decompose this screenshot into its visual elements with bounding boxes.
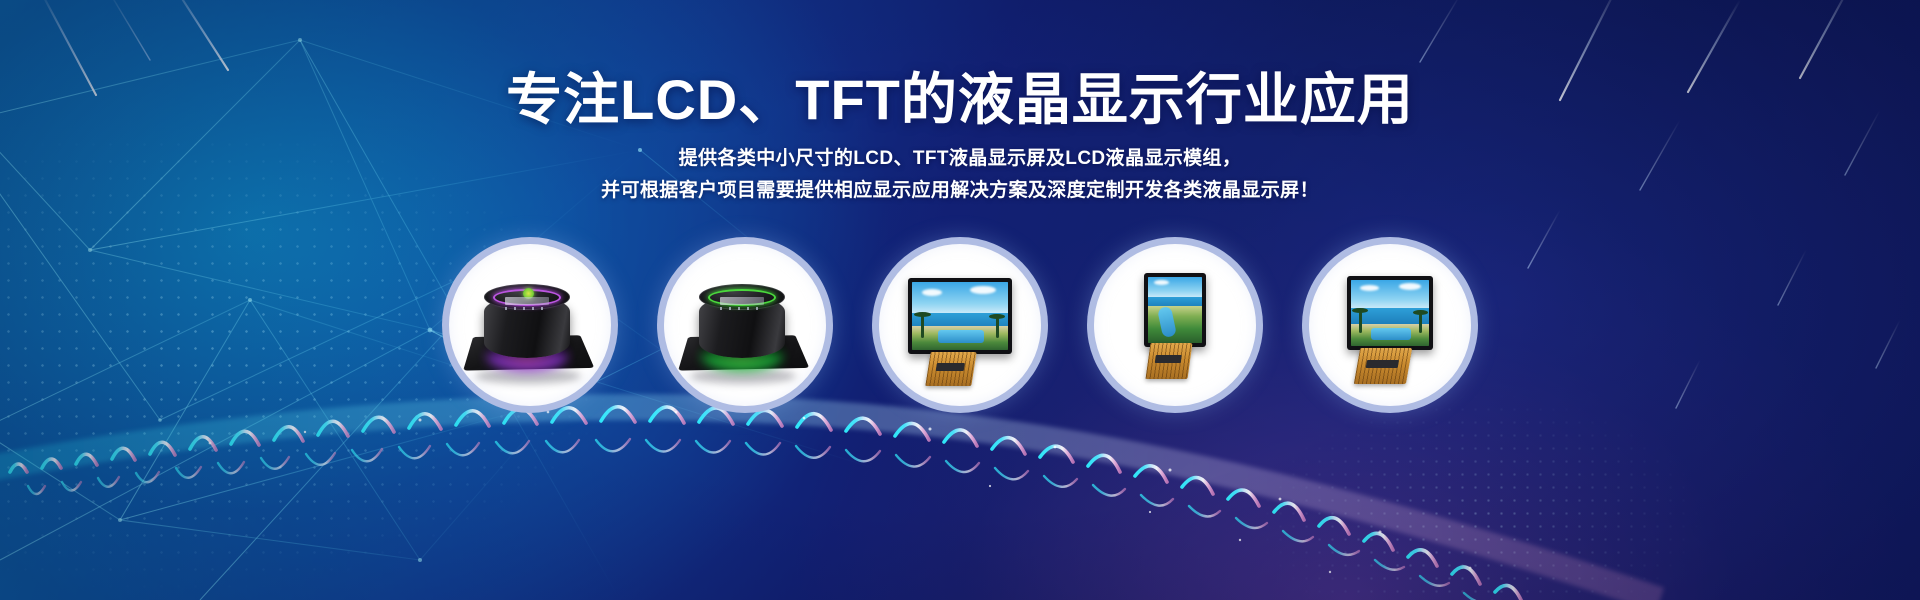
circle-frame [872, 237, 1048, 413]
circle-frame [657, 237, 833, 413]
circle-frame [442, 237, 618, 413]
lcd-driver-chip [1366, 360, 1399, 368]
screen-image-palm [921, 316, 924, 338]
screen-image-palm [996, 318, 999, 338]
speaker-screen-text [720, 297, 764, 305]
screen-image-cloud [1399, 283, 1421, 290]
product-showcase-row [0, 232, 1920, 418]
product-circle-lcd-square[interactable] [1302, 237, 1478, 413]
subtitle-block: 提供各类中小尺寸的LCD、TFT液晶显示屏及LCD液晶显示模组， 并可根据客户项… [0, 143, 1920, 207]
subtitle-line-2: 并可根据客户项目需要提供相应显示应用解决方案及深度定制开发各类液晶显示屏！ [0, 175, 1920, 207]
screen-image-land [1148, 306, 1202, 343]
product-circle-tft-portrait[interactable] [1087, 237, 1263, 413]
product-image-smart-speaker-purple [455, 250, 605, 400]
lcd-flex-cable [925, 352, 976, 386]
screen-image-cloud [970, 286, 996, 294]
screen-image-palm [1352, 308, 1368, 313]
speaker-screen-dots [720, 307, 764, 310]
circle-frame [1302, 237, 1478, 413]
banner-content: 专注LCD、TFT的液晶显示行业应用 提供各类中小尺寸的LCD、TFT液晶显示屏… [0, 0, 1920, 600]
lcd-screen [912, 282, 1008, 350]
screen-image-palm [914, 312, 931, 317]
screen-image-palm [1419, 314, 1422, 333]
speaker-screen-dots [505, 307, 549, 310]
screen-image-pool [1371, 328, 1411, 340]
screen-image-palm [1359, 312, 1362, 333]
lcd-bezel [1347, 276, 1433, 350]
lcd-screen [1148, 277, 1202, 343]
screen-image-cloud [1154, 280, 1169, 285]
screen-image-pool [938, 330, 984, 343]
lcd-bezel [908, 278, 1012, 354]
hero-banner: 专注LCD、TFT的液晶显示行业应用 提供各类中小尺寸的LCD、TFT液晶显示屏… [0, 0, 1920, 600]
product-image-smart-speaker-green [670, 250, 820, 400]
product-image-tft-landscape [885, 250, 1035, 400]
screen-image-cloud [922, 289, 942, 296]
lcd-flex-cable [1354, 348, 1412, 384]
lcd-driver-chip [936, 363, 965, 371]
circle-frame [1087, 237, 1263, 413]
product-circle-smart-speaker-green[interactable] [657, 237, 833, 413]
screen-image-palm [1413, 310, 1428, 315]
speaker-screen-text [505, 297, 549, 305]
subtitle-line-1: 提供各类中小尺寸的LCD、TFT液晶显示屏及LCD液晶显示模组， [0, 143, 1920, 175]
lcd-bezel [1144, 273, 1206, 347]
lcd-screen [1351, 280, 1429, 346]
product-image-lcd-square [1315, 250, 1465, 400]
product-image-tft-portrait [1100, 250, 1250, 400]
page-title: 专注LCD、TFT的液晶显示行业应用 [0, 70, 1920, 130]
screen-image-palm [989, 314, 1005, 319]
lcd-driver-chip [1155, 355, 1182, 363]
product-circle-smart-speaker-purple[interactable] [442, 237, 618, 413]
screen-image-cloud [1360, 285, 1379, 291]
lcd-flex-cable [1145, 343, 1192, 379]
product-circle-tft-landscape[interactable] [872, 237, 1048, 413]
